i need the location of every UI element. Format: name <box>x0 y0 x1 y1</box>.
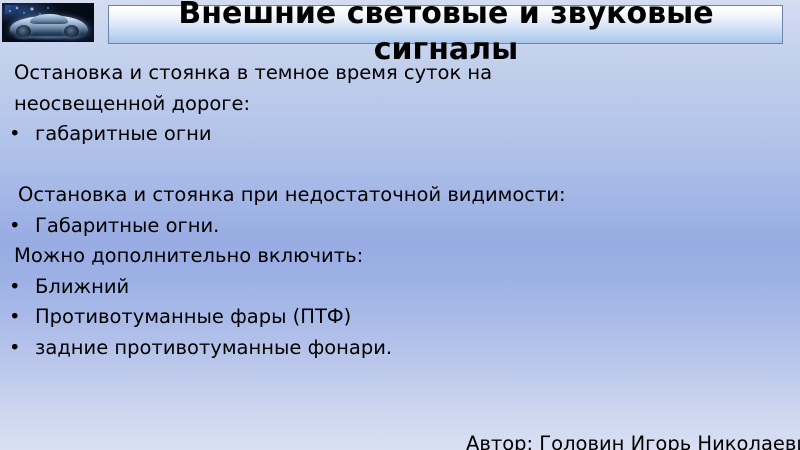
body-bullet-item: •габаритные огни <box>0 119 740 150</box>
slide: Внешние световые и звуковые сигналы Оста… <box>0 0 800 450</box>
body-bullet-item: •задние противотуманные фонари. <box>0 333 740 364</box>
body-bullet-item: •Противотуманные фары (ПТФ) <box>0 302 740 333</box>
bullet-point-icon: • <box>9 272 35 303</box>
body-bullet-item: •Ближний <box>0 272 740 303</box>
body-paragraph-line: неосвещенной дороге: <box>0 89 740 120</box>
bullet-point-icon: • <box>9 211 35 242</box>
bullet-item-label: Противотуманные фары (ПТФ) <box>35 302 351 333</box>
body-bullet-item: •Габаритные огни. <box>0 211 740 242</box>
body-paragraph-line: Остановка и стоянка при недостаточной ви… <box>0 180 740 211</box>
bullet-item-label: задние противотуманные фонари. <box>35 333 392 364</box>
bullet-point-icon: • <box>9 119 35 150</box>
bullet-item-label: Габаритные огни. <box>35 211 219 242</box>
bullet-point-icon: • <box>9 333 35 364</box>
body-paragraph-line: Остановка и стоянка в темное время суток… <box>0 58 740 89</box>
car-ground-glow <box>10 35 86 40</box>
body-paragraph-line: Можно дополнительно включить: <box>0 241 740 272</box>
car-photo <box>2 3 94 42</box>
bullet-item-label: Ближний <box>35 272 129 303</box>
car-window-shape <box>30 14 68 24</box>
author-credit: Автор: Головин Игорь Николаевич <box>466 431 800 450</box>
slide-body: Остановка и стоянка в темное время суток… <box>0 58 740 363</box>
body-spacer-line <box>0 150 740 181</box>
bullet-point-icon: • <box>9 302 35 333</box>
bullet-item-label: габаритные огни <box>35 119 212 150</box>
